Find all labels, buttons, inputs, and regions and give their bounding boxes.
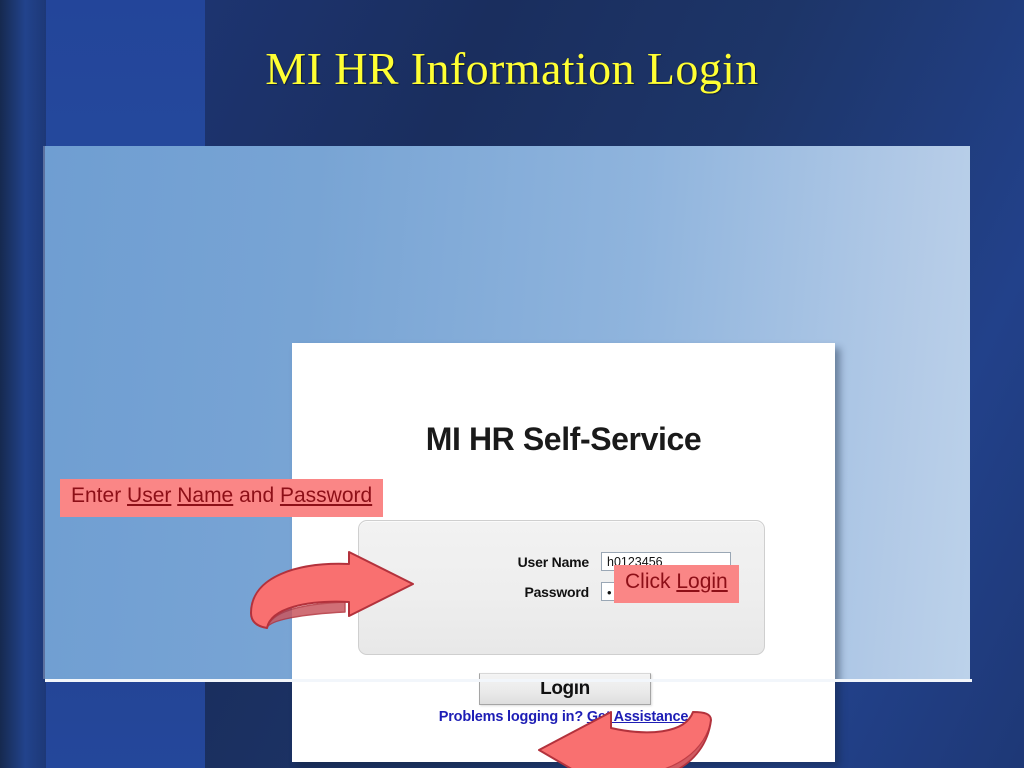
background-left-edge [0, 0, 46, 768]
username-label: User Name [473, 554, 601, 570]
callout-click-login: Click Login [614, 565, 739, 603]
callout-underline-password: Password [280, 484, 372, 507]
password-label: Password [473, 584, 601, 600]
callout-enter-credentials: Enter User Name and Password [60, 479, 383, 517]
callout-underline-login: Login [676, 570, 727, 593]
page-title: MI HR Information Login [0, 42, 1024, 95]
content-panel: MI HR Self-Service User Name h0123456 Pa… [45, 146, 970, 679]
callout-underline-user: User [127, 484, 171, 507]
callout-click-text: Click [625, 570, 676, 593]
callout-underline-name: Name [177, 484, 233, 507]
annotation-arrow-to-login [515, 698, 715, 768]
panel-underline [45, 679, 972, 682]
product-title: MI HR Self-Service [292, 421, 835, 458]
annotation-arrow-to-fields [241, 550, 417, 632]
slide-canvas: MI HR Information Login MI HR Self-Servi… [0, 0, 1024, 768]
callout-text-1: Enter [71, 484, 127, 507]
callout-text-3: and [233, 484, 280, 507]
